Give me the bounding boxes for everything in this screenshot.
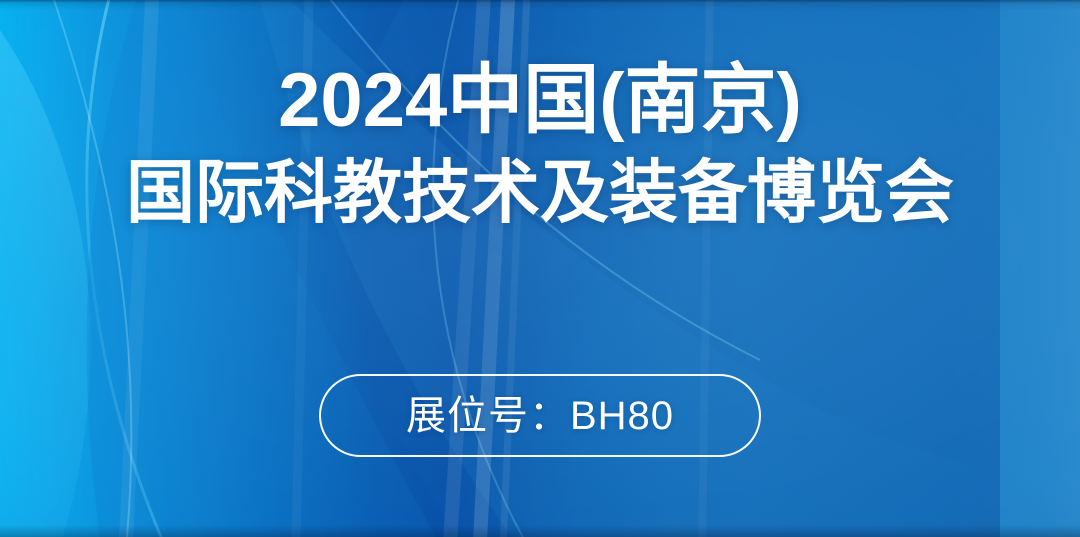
title-line-1: 2024中国(南京)	[126, 60, 954, 142]
exhibition-banner: 2024中国(南京) 国际科教技术及装备博览会 展位号：BH80	[0, 0, 1080, 537]
booth-badge-wrap: 展位号：BH80	[319, 374, 761, 457]
booth-number-badge: 展位号：BH80	[319, 374, 761, 457]
title-line-2: 国际科教技术及装备博览会	[126, 154, 954, 231]
banner-content: 2024中国(南京) 国际科教技术及装备博览会 展位号：BH80	[0, 0, 1080, 537]
booth-number-label: 展位号：BH80	[406, 396, 674, 436]
banner-title-block: 2024中国(南京) 国际科教技术及装备博览会	[126, 60, 954, 231]
